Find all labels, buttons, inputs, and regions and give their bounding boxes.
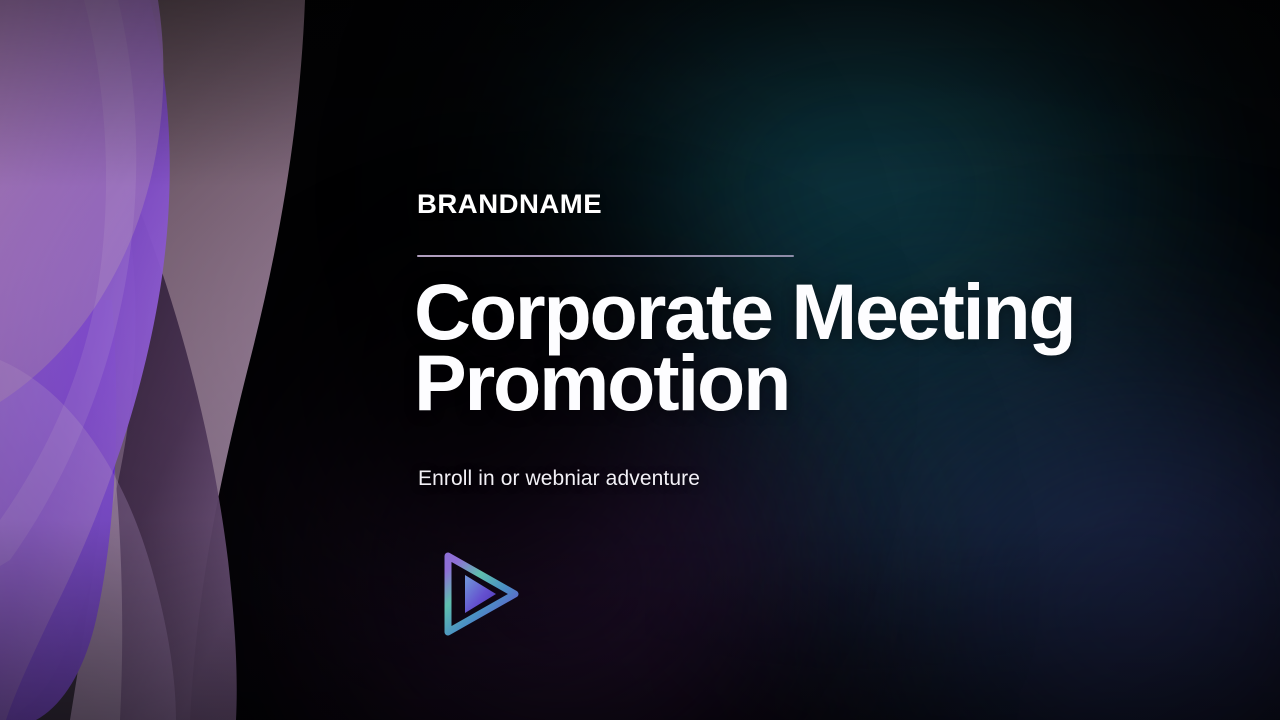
headline-line-2: Promotion (414, 347, 1194, 418)
title-divider (417, 255, 794, 257)
play-button[interactable] (435, 548, 527, 640)
play-triangle-icon (435, 548, 527, 640)
brand-name: BRANDNAME (417, 189, 602, 220)
promo-slide: BRANDNAME Corporate Meeting Promotion En… (0, 0, 1280, 720)
headline-line-1: Corporate Meeting (414, 276, 1194, 347)
slide-content: BRANDNAME Corporate Meeting Promotion En… (417, 0, 1217, 720)
abstract-ribbon-artwork (0, 0, 320, 720)
page-title: Corporate Meeting Promotion (414, 276, 1194, 418)
subtitle: Enroll in or webniar adventure (418, 467, 700, 491)
